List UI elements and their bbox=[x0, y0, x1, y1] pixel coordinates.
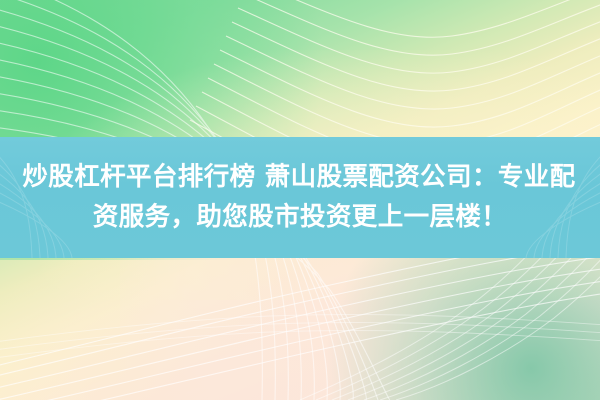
headline-line-1: 炒股杠杆平台排行榜 萧山股票配资公司：专业配 bbox=[22, 159, 577, 196]
headline-line-2: 资服务，助您股市投资更上一层楼！ bbox=[93, 199, 507, 236]
headline-text-block: 炒股杠杆平台排行榜 萧山股票配资公司：专业配 资服务，助您股市投资更上一层楼！ bbox=[0, 137, 600, 258]
promo-banner: 炒股杠杆平台排行榜 萧山股票配资公司：专业配 资服务，助您股市投资更上一层楼！ bbox=[0, 0, 600, 400]
